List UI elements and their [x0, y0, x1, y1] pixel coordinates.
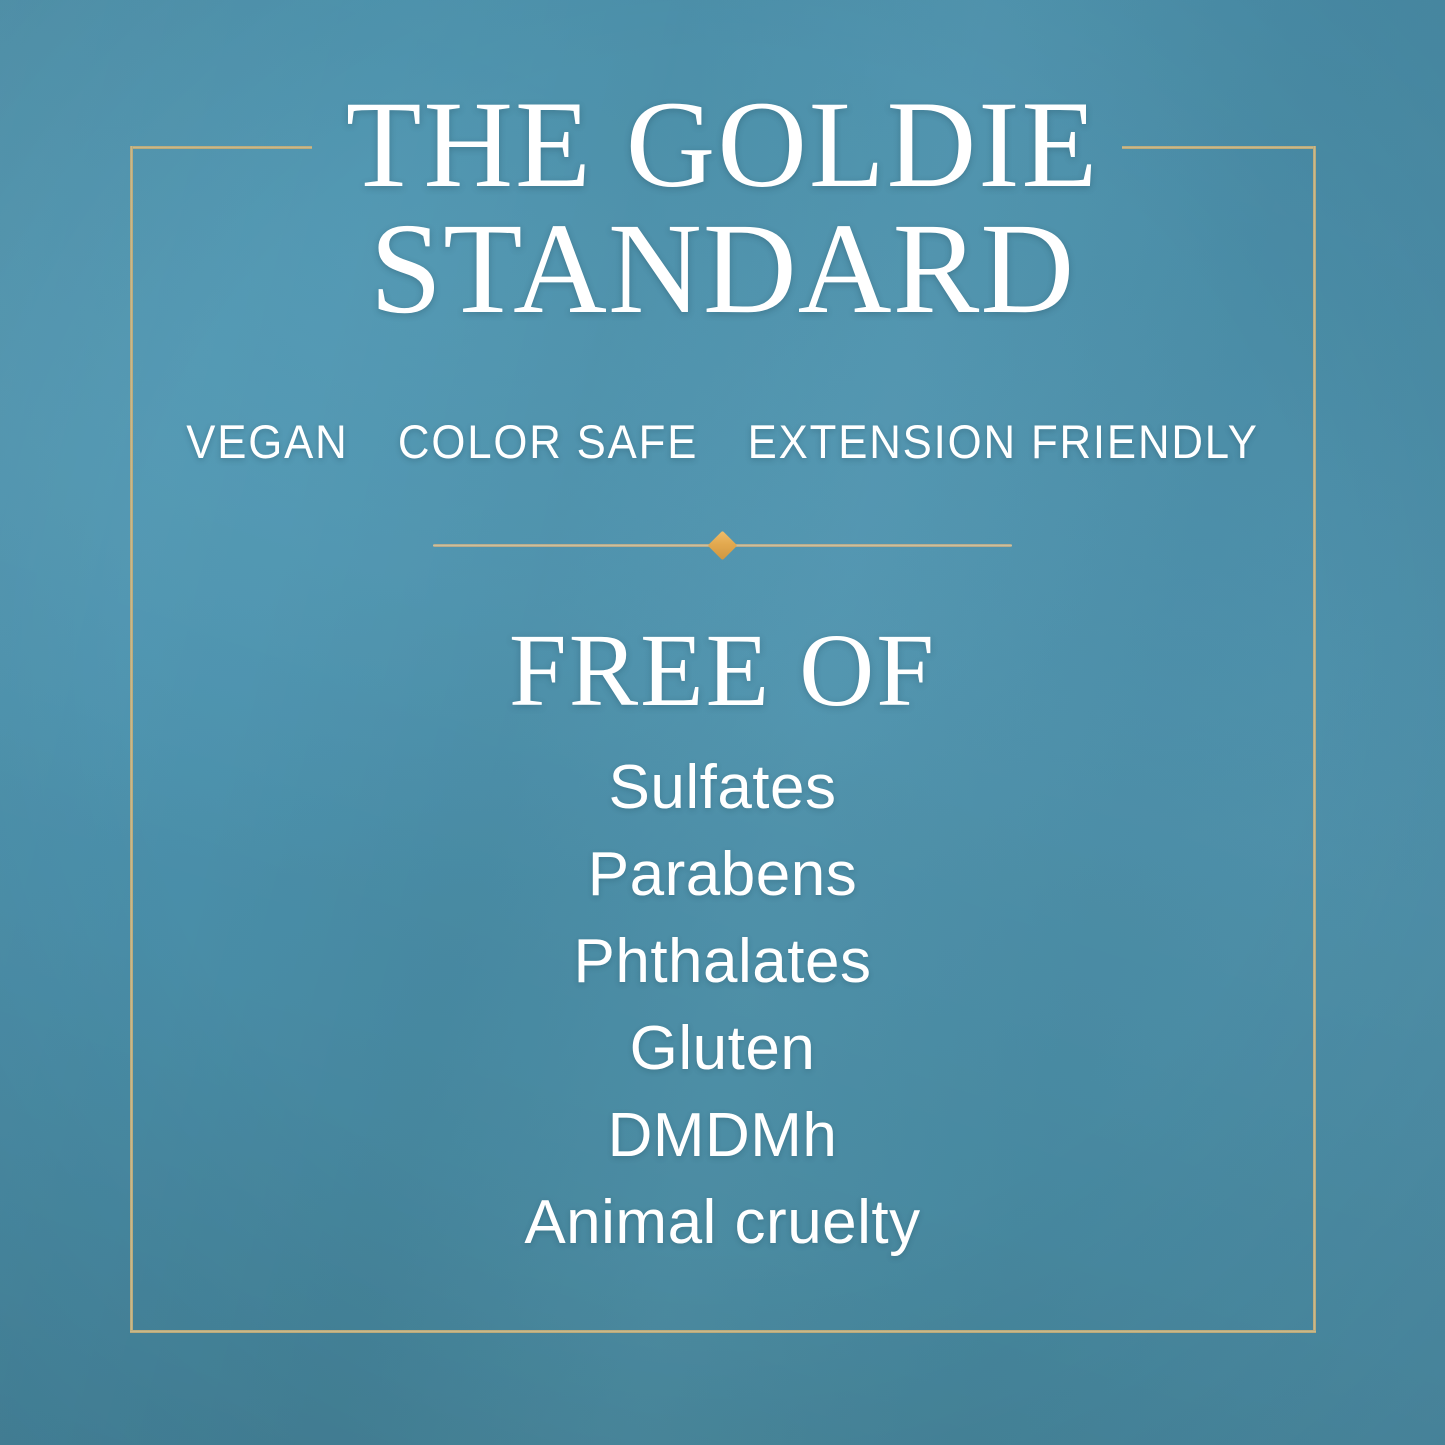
claim-vegan: VEGAN: [186, 415, 348, 468]
headline-line-2: STANDARD: [0, 206, 1445, 333]
list-item: Animal cruelty: [0, 1179, 1445, 1266]
list-item: Phthalates: [0, 918, 1445, 1005]
claim-color-safe: COLOR SAFE: [398, 415, 698, 468]
product-claims-graphic: THE GOLDIE STANDARD VEGAN COLOR SAFE EXT…: [0, 0, 1445, 1445]
ornamental-divider: [433, 543, 1012, 547]
list-item: DMDMh: [0, 1092, 1445, 1179]
claims-row: VEGAN COLOR SAFE EXTENSION FRIENDLY: [51, 414, 1395, 469]
list-item: Parabens: [0, 831, 1445, 918]
list-item: Sulfates: [0, 744, 1445, 831]
free-of-list: Sulfates Parabens Phthalates Gluten DMDM…: [0, 744, 1445, 1266]
headline-line-1: THE GOLDIE: [0, 84, 1445, 206]
list-item: Gluten: [0, 1005, 1445, 1092]
frame-bottom-edge: [130, 1330, 1316, 1333]
free-of-heading: FREE OF: [0, 619, 1445, 723]
claim-extension-friendly: EXTENSION FRIENDLY: [748, 415, 1259, 468]
headline: THE GOLDIE STANDARD: [0, 84, 1445, 333]
